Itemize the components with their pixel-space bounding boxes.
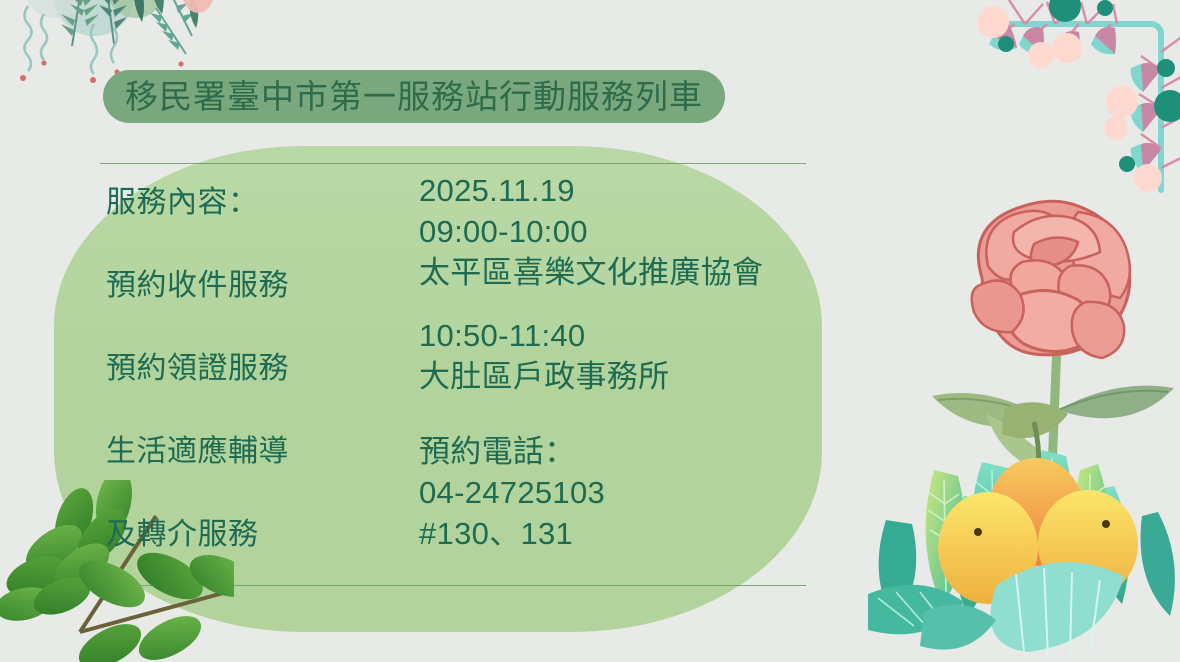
- session-2-time: 10:50-11:40: [419, 315, 819, 356]
- service-item-1: 預約收件服務: [106, 271, 386, 301]
- event-date: 2025.11.19: [419, 170, 819, 211]
- poster-content: 服務內容： 預約收件服務 預約領證服務 生活適應輔導 及轉介服務 2025.11…: [0, 0, 1180, 662]
- contact-block: 預約電話： 04-24725103 #130、131: [419, 431, 819, 554]
- session-2: 10:50-11:40 大肚區戶政事務所: [419, 315, 819, 397]
- services-column: 服務內容： 預約收件服務 預約領證服務 生活適應輔導 及轉介服務: [106, 188, 386, 550]
- service-item-2: 預約領證服務: [106, 354, 386, 384]
- service-item-4: 及轉介服務: [106, 520, 386, 550]
- service-item-3: 生活適應輔導: [106, 437, 386, 467]
- contact-phone[interactable]: 04-24725103: [419, 472, 819, 513]
- session-1: 2025.11.19 09:00-10:00 太平區喜樂文化推廣協會: [419, 170, 819, 293]
- services-heading: 服務內容：: [106, 188, 386, 218]
- session-1-time: 09:00-10:00: [419, 211, 819, 252]
- session-2-venue: 大肚區戶政事務所: [419, 356, 819, 397]
- contact-label: 預約電話：: [419, 431, 819, 472]
- poster-canvas: 移民署臺中市第一服務站行動服務列車 服務內容： 預約收件服務 預約領證服務 生活…: [0, 0, 1180, 662]
- session-1-venue: 太平區喜樂文化推廣協會: [419, 252, 819, 293]
- contact-extensions: #130、131: [419, 513, 819, 554]
- schedule-column: 2025.11.19 09:00-10:00 太平區喜樂文化推廣協會 10:50…: [419, 170, 819, 554]
